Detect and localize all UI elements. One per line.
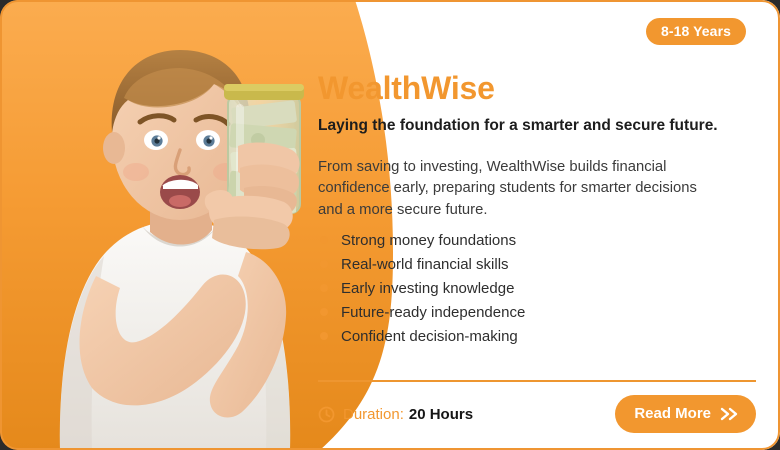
duration-value: 20 Hours — [409, 406, 473, 423]
double-chevron-right-icon — [720, 407, 740, 421]
page-title: WealthWise — [318, 72, 495, 104]
list-item: Early investing knowledge — [320, 276, 525, 300]
card-content: 8-18 Years WealthWise Laying the foundat… — [318, 0, 758, 450]
duration-info: Duration: 20 Hours — [318, 406, 473, 423]
course-card: 100 8-18 Years WealthW — [0, 0, 780, 450]
feature-label: Confident decision-making — [341, 328, 518, 345]
list-item: Future-ready independence — [320, 300, 525, 324]
age-range-badge: 8-18 Years — [646, 18, 746, 45]
feature-label: Early investing knowledge — [341, 280, 514, 297]
bullet-dot-icon — [320, 236, 328, 244]
read-more-button[interactable]: Read More — [615, 395, 756, 433]
clock-icon — [318, 406, 335, 423]
footer-divider — [318, 380, 756, 382]
feature-label: Strong money foundations — [341, 232, 516, 249]
feature-list: Strong money foundations Real-world fina… — [320, 228, 525, 348]
card-subtitle: Laying the foundation for a smarter and … — [318, 117, 718, 136]
card-description: From saving to investing, WealthWise bui… — [318, 157, 718, 221]
list-item: Real-world financial skills — [320, 252, 525, 276]
list-item: Strong money foundations — [320, 228, 525, 252]
bullet-dot-icon — [320, 332, 328, 340]
feature-label: Real-world financial skills — [341, 256, 509, 273]
bullet-dot-icon — [320, 308, 328, 316]
duration-label: Duration: — [343, 406, 404, 423]
bullet-dot-icon — [320, 260, 328, 268]
read-more-label: Read More — [634, 405, 711, 422]
feature-label: Future-ready independence — [341, 304, 525, 321]
bullet-dot-icon — [320, 284, 328, 292]
card-footer: Duration: 20 Hours Read More — [318, 394, 756, 434]
list-item: Confident decision-making — [320, 324, 525, 348]
